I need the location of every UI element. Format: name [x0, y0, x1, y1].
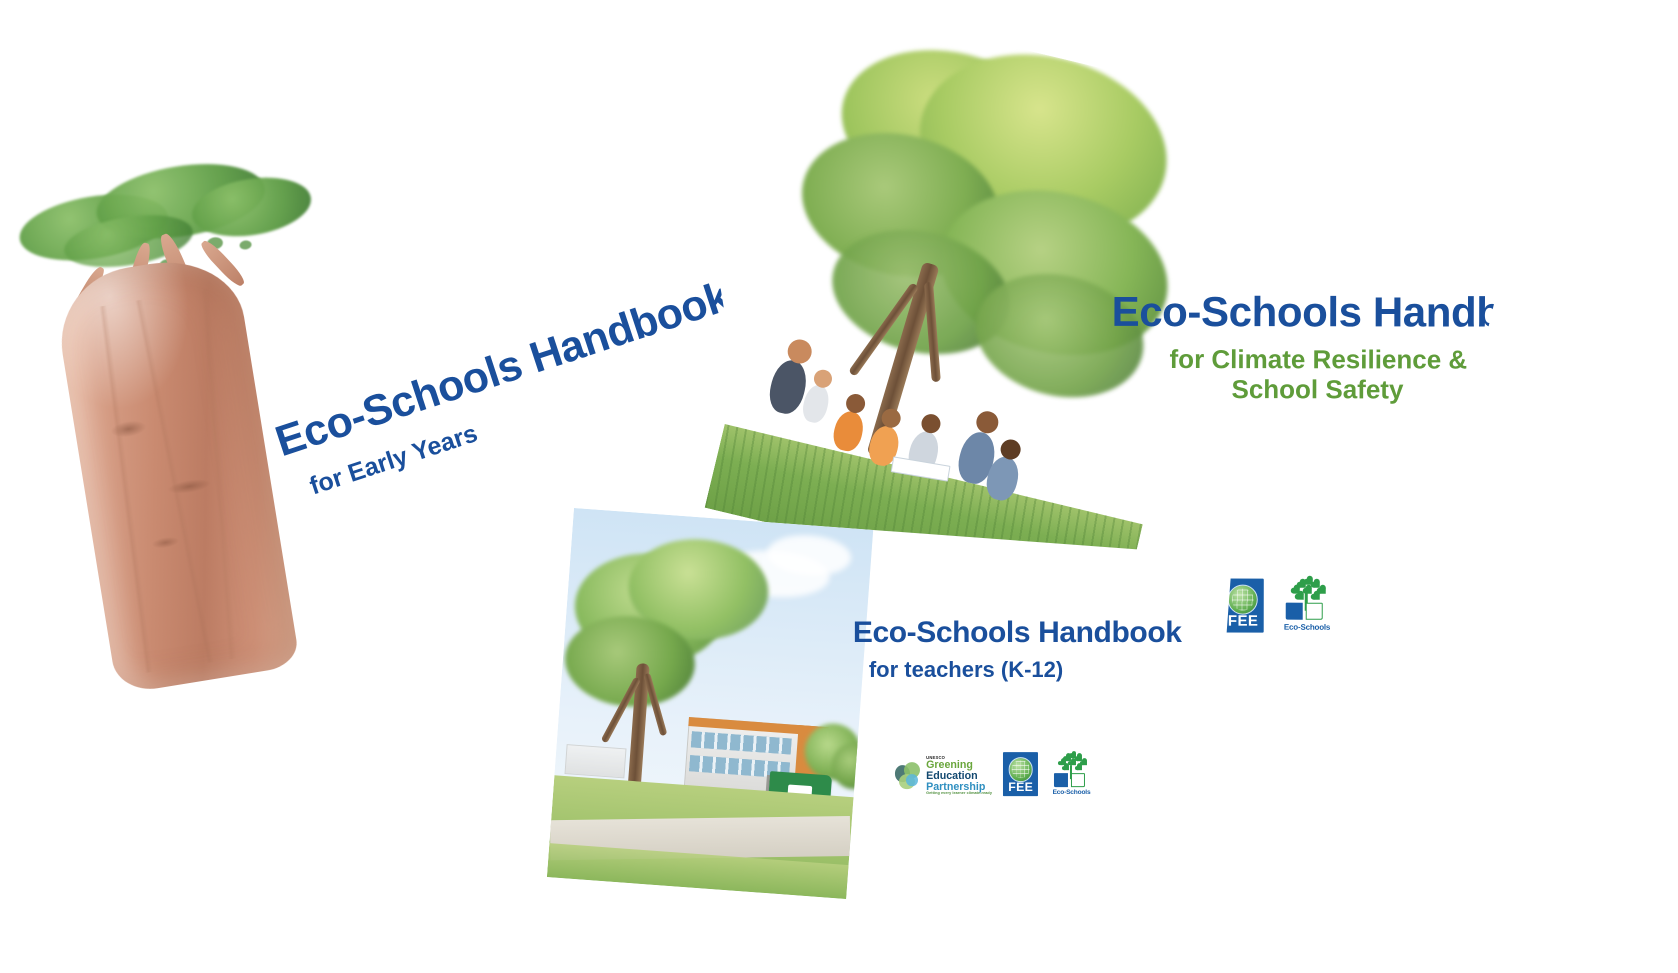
eco-schools-mark-icon [388, 687, 449, 721]
cover-subtitle: for teachers (K-12) [869, 659, 1182, 682]
tree-crown-icon [1059, 753, 1087, 771]
cover-title: Eco-Schools Handbook [853, 617, 1182, 648]
book-cover-teachers-k12[interactable]: Eco-Schools Handbook for teachers (K-12)… [545, 508, 1233, 955]
figure-child-2 [830, 408, 867, 453]
cover-art-school-campus [547, 508, 873, 899]
gep-line-2: Education [926, 771, 992, 782]
eco-schools-logo: Eco-Schools [388, 685, 456, 721]
book-right-icon [1306, 603, 1323, 620]
book-right-icon [420, 712, 441, 721]
cover-subtitle: for Climate Resilience & School Safety [1169, 344, 1526, 406]
cover-subtitle-line-1: for Climate Resilience & [1170, 344, 1468, 375]
tree-crown-icon [1292, 579, 1326, 601]
eco-schools-mark-icon [1049, 753, 1090, 787]
eco-schools-mark-icon [1280, 579, 1330, 621]
fee-wordmark: FEE [1003, 780, 1037, 794]
fee-globe-icon [1228, 585, 1258, 615]
book-left-icon [1286, 603, 1303, 620]
cover-title-block-teachers: Eco-Schools Handbook for teachers (K-12) [853, 617, 1182, 682]
book-right-icon [1071, 773, 1085, 787]
cover-title: Eco-Schools Handbook [1112, 290, 1527, 334]
book-left-icon [1054, 773, 1068, 787]
book-left-icon [401, 718, 422, 721]
cover-subtitle-line-2: School Safety [1231, 374, 1526, 405]
fee-wordmark: FEE [1222, 613, 1264, 630]
eco-schools-logo: Eco-Schools [1049, 753, 1093, 796]
cover-title-block-climate: Eco-Schools Handbook for Climate Resilie… [1111, 290, 1526, 406]
covers-stage: Eco-Schools Handbook for Early Years [0, 0, 1678, 973]
gep-blobs-icon [458, 680, 501, 720]
tree-crown-icon [399, 688, 438, 720]
tree-stem-icon [416, 707, 424, 721]
eco-schools-logo: Eco-Schools [1280, 579, 1334, 632]
eco-schools-wordmark: Eco-Schools [1280, 623, 1334, 632]
gep-tagline: Getting every learner climate-ready [926, 792, 992, 796]
greening-education-partnership-logo: UNESCO Greening Education Partnership Ge… [895, 756, 992, 797]
eco-schools-wordmark: Eco-Schools [1049, 789, 1093, 796]
logo-row-teachers: UNESCO Greening Education Partnership Ge… [895, 752, 1094, 796]
gep-blobs-icon [895, 762, 923, 790]
fee-logo: FEE [1003, 752, 1037, 796]
fee-globe-icon [1008, 757, 1033, 782]
gep-wordmark: UNESCO Greening Education Partnership Ge… [926, 756, 992, 797]
gep-line-1: Greening [926, 760, 992, 771]
